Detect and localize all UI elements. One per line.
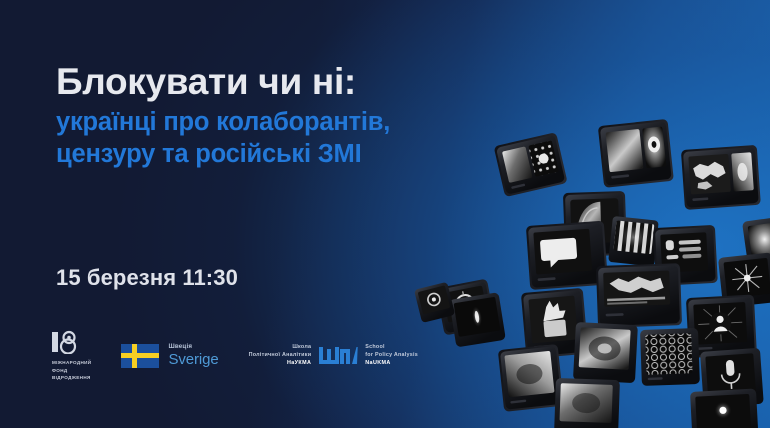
irf-wordmark: МІЖНАРОДНИЙ ФОНД ВІДРОДЖЕННЯ xyxy=(52,359,91,382)
spa-uk-line-3: НаУКМА xyxy=(249,360,312,368)
sweden-wordmark: Швеція Sverige xyxy=(168,344,218,367)
promo-banner: Блокувати чи ні: українці про колаборант… xyxy=(0,0,770,428)
spa-en-line-1: School xyxy=(365,344,418,352)
page-title: Блокувати чи ні: xyxy=(56,62,486,101)
spa-wordmark-en: School for Policy Analysis NaUKMA xyxy=(365,344,418,367)
irf-line-2: ФОНД xyxy=(52,367,91,375)
headline-block: Блокувати чи ні: українці про колаборант… xyxy=(56,62,486,170)
irf-line-1: МІЖНАРОДНИЙ xyxy=(52,359,91,367)
logo-sweden[interactable]: Швеція Sverige xyxy=(121,344,218,368)
sweden-label-en: Sverige xyxy=(168,352,218,367)
swedish-flag-icon xyxy=(121,344,159,368)
spa-wordmark-uk: Школа Політичної Аналітики НаУКМА xyxy=(249,344,312,367)
logo-international-renaissance-foundation[interactable]: МІЖНАРОДНИЙ ФОНД ВІДРОДЖЕННЯ xyxy=(52,330,91,382)
event-datetime: 15 березня 11:30 xyxy=(56,265,238,291)
irf-mark-icon xyxy=(52,330,82,354)
logo-school-for-policy-analysis-naukma[interactable]: Школа Політичної Аналітики НаУКМА School… xyxy=(249,343,418,369)
irf-line-3: ВІДРОДЖЕННЯ xyxy=(52,374,91,382)
subtitle-line-2: цензуру та російські ЗМІ xyxy=(56,139,486,171)
spa-uk-line-2: Політичної Аналітики xyxy=(249,352,312,360)
spa-en-line-2: for Policy Analysis xyxy=(365,352,418,360)
page-subtitle: українці про колаборантів, цензуру та ро… xyxy=(56,107,486,170)
subtitle-line-1: українці про колаборантів, xyxy=(56,107,486,139)
shpa-monogram-icon xyxy=(318,343,358,369)
spa-en-line-3: NaUKMA xyxy=(365,360,418,368)
sweden-label-uk: Швеція xyxy=(168,344,218,350)
partner-logo-strip: МІЖНАРОДНИЙ ФОНД ВІДРОДЖЕННЯ Швеція Sver… xyxy=(52,330,418,382)
spa-uk-line-1: Школа xyxy=(249,344,312,352)
